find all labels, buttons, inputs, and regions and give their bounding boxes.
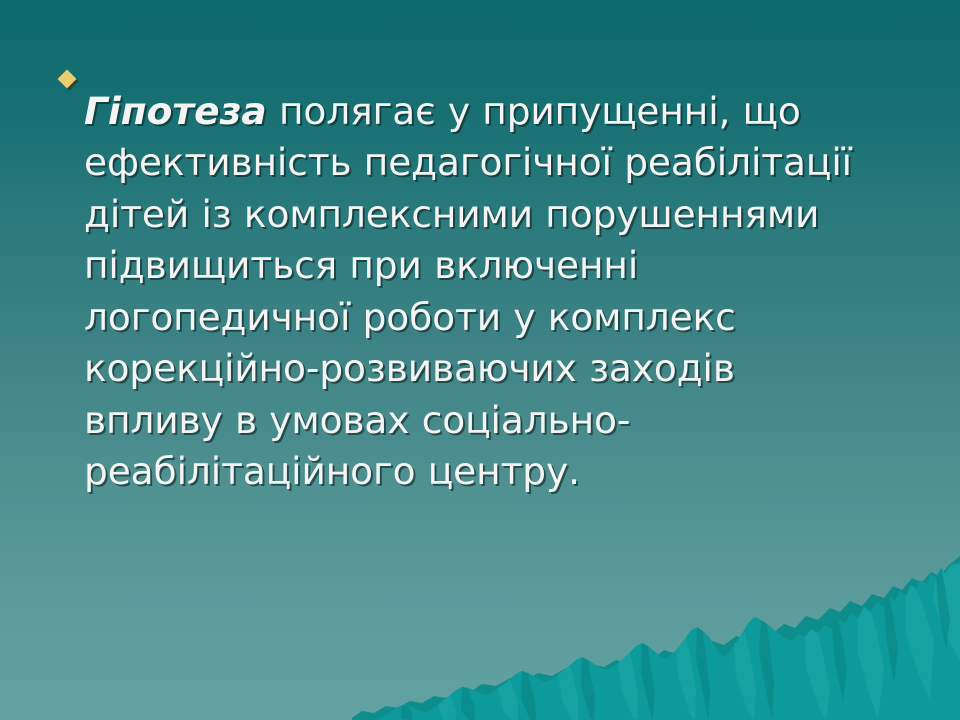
mountain-shadow-facets <box>401 568 950 720</box>
bullet-list-item: Гіпотеза полягає у припущенні, що ефекти… <box>54 48 884 535</box>
mountain-front-ridge <box>374 563 960 720</box>
diamond-bullet-icon <box>54 48 84 92</box>
hypothesis-paragraph: Гіпотеза полягає у припущенні, що ефекти… <box>84 86 884 498</box>
hypothesis-lead-word: Гіпотеза <box>84 89 267 133</box>
mountain-highlight-facets <box>438 563 960 720</box>
mountain-back-ridge <box>352 556 960 720</box>
slide-body-text-block: Гіпотеза полягає у припущенні, що ефекти… <box>54 48 884 535</box>
slide-canvas: Гіпотеза полягає у припущенні, що ефекти… <box>0 0 960 720</box>
hypothesis-body-text: полягає у припущенні, що ефективність пе… <box>84 89 852 494</box>
